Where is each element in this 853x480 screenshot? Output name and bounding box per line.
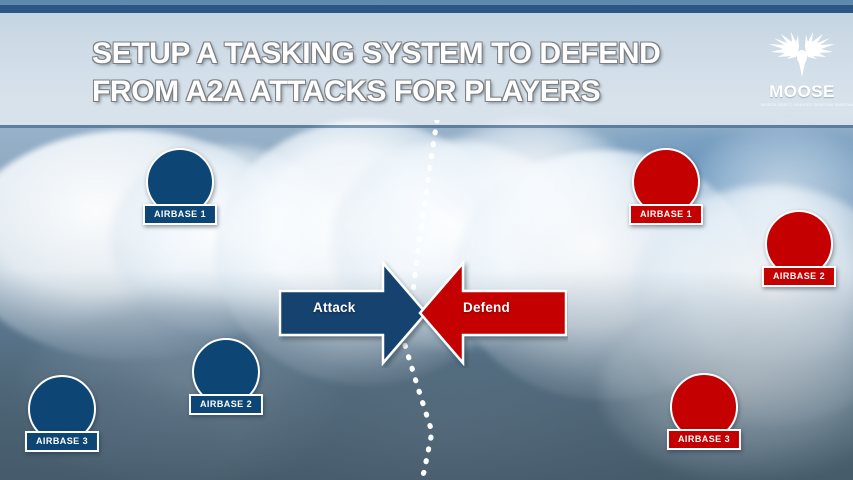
airbase-node-red-1[interactable]: AIRBASE 1 [632, 148, 700, 216]
airbase-label: AIRBASE 3 [667, 429, 741, 450]
slide-root: SETUP A TASKING SYSTEM TO DEFEND FROM A2… [0, 0, 853, 480]
airbase-node-red-2[interactable]: AIRBASE 2 [765, 210, 833, 278]
airbase-node-blue-2[interactable]: AIRBASE 2 [192, 338, 260, 406]
defend-arrow-label: Defend [463, 300, 510, 315]
airbase-label: AIRBASE 1 [143, 204, 217, 225]
moose-wordmark: MOOSE [763, 82, 841, 102]
header-band: SETUP A TASKING SYSTEM TO DEFEND FROM A2… [0, 5, 853, 125]
attack-arrow-label: Attack [313, 300, 355, 315]
airbase-label: AIRBASE 2 [762, 266, 836, 287]
airbase-node-red-3[interactable]: AIRBASE 3 [670, 373, 738, 441]
airbase-node-blue-3[interactable]: AIRBASE 3 [28, 375, 96, 443]
page-title: SETUP A TASKING SYSTEM TO DEFEND FROM A2… [92, 35, 732, 112]
moose-tagline: MISSION OBJECT ORIENTED SCRIPTING ENVIRO… [761, 103, 843, 107]
airbase-label: AIRBASE 2 [189, 394, 263, 415]
attack-defend-arrows: Attack Defend [278, 258, 568, 368]
airbase-label: AIRBASE 3 [25, 431, 99, 452]
moose-logo: MOOSE MISSION OBJECT ORIENTED SCRIPTING … [763, 27, 841, 113]
airbase-node-blue-1[interactable]: AIRBASE 1 [146, 148, 214, 216]
airbase-label: AIRBASE 1 [629, 204, 703, 225]
moose-antlers-icon [763, 27, 841, 81]
